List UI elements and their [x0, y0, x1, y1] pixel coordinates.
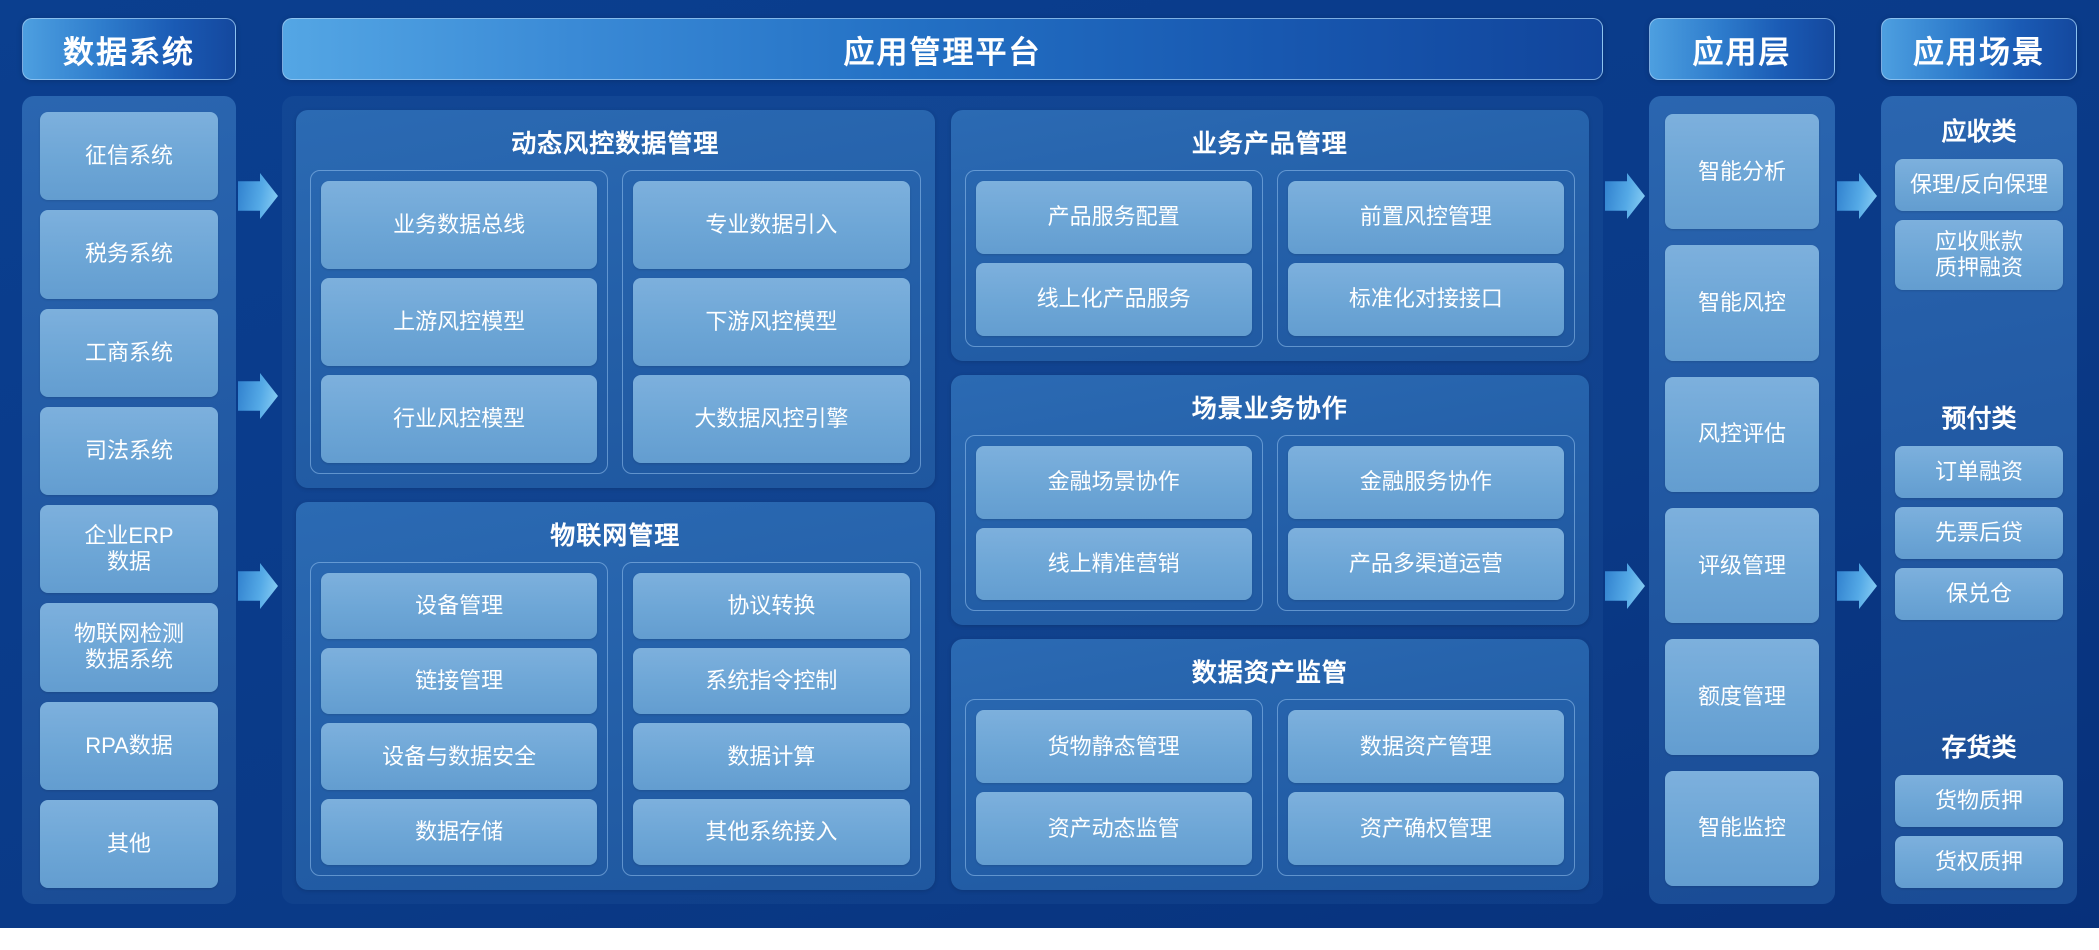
scenario-group-title: 应收类 [1895, 110, 2063, 150]
data-system-item[interactable]: 税务系统 [40, 210, 218, 298]
module-item[interactable]: 上游风控模型 [321, 278, 597, 366]
data-system-item[interactable]: RPA数据 [40, 702, 218, 790]
sub-panel: 前置风控管理 标准化对接接口 [1277, 170, 1575, 347]
sub-panel: 金融服务协作 产品多渠道运营 [1277, 435, 1575, 612]
module-title: 场景业务协作 [965, 385, 1576, 435]
flow-arrow-icon [1605, 563, 1645, 609]
module-item[interactable]: 线上化产品服务 [976, 263, 1252, 336]
platform-left-column: 动态风控数据管理 业务数据总线 上游风控模型 行业风控模型 专业数据引入 下游风… [296, 110, 935, 890]
data-system-item[interactable]: 工商系统 [40, 309, 218, 397]
scenario-item[interactable]: 货权质押 [1895, 836, 2063, 888]
sub-panel: 协议转换 系统指令控制 数据计算 其他系统接入 [622, 562, 920, 876]
application-layer-body: 智能分析 智能风控 风控评估 评级管理 额度管理 智能监控 [1649, 96, 1835, 904]
module-item[interactable]: 资产动态监管 [976, 792, 1252, 865]
flow-arrow-icon [238, 373, 278, 419]
scenario-item[interactable]: 保兑仓 [1895, 568, 2063, 620]
module-item[interactable]: 前置风控管理 [1288, 181, 1564, 254]
module-item[interactable]: 数据资产管理 [1288, 710, 1564, 783]
module-dynamic-risk-data: 动态风控数据管理 业务数据总线 上游风控模型 行业风控模型 专业数据引入 下游风… [296, 110, 935, 488]
sub-panel: 金融场景协作 线上精准营销 [965, 435, 1263, 612]
module-data-asset-supervision: 数据资产监管 货物静态管理 资产动态监管 数据资产管理 资产确权管理 [951, 639, 1590, 890]
module-item[interactable]: 下游风控模型 [633, 278, 909, 366]
data-systems-body: 征信系统 税务系统 工商系统 司法系统 企业ERP 数据 物联网检测 数据系统 … [22, 96, 236, 904]
column-header-application-layer: 应用层 [1649, 18, 1835, 80]
module-item[interactable]: 大数据风控引擎 [633, 375, 909, 463]
sub-panel: 数据资产管理 资产确权管理 [1277, 699, 1575, 876]
diagram-stage: 数据系统 征信系统 税务系统 工商系统 司法系统 企业ERP 数据 物联网检测 … [0, 0, 2099, 928]
module-iot-management: 物联网管理 设备管理 链接管理 设备与数据安全 数据存储 协议转换 系统指令控制 [296, 502, 935, 890]
sub-panel: 业务数据总线 上游风控模型 行业风控模型 [310, 170, 608, 474]
scenario-group-prepayment: 预付类 订单融资 先票后贷 保兑仓 [1895, 397, 2063, 620]
flow-arrow-icon [1837, 173, 1877, 219]
module-title: 数据资产监管 [965, 649, 1576, 699]
application-layer-item[interactable]: 风控评估 [1665, 377, 1819, 492]
data-system-item[interactable]: 物联网检测 数据系统 [40, 603, 218, 691]
module-item[interactable]: 金融场景协作 [976, 446, 1252, 519]
module-title: 动态风控数据管理 [310, 120, 921, 170]
sub-panel: 设备管理 链接管理 设备与数据安全 数据存储 [310, 562, 608, 876]
sub-panel: 专业数据引入 下游风控模型 大数据风控引擎 [622, 170, 920, 474]
column-platform: 应用管理平台 动态风控数据管理 业务数据总线 上游风控模型 行业风控模型 [282, 18, 1603, 904]
data-system-item[interactable]: 司法系统 [40, 407, 218, 495]
module-scenario-collaboration: 场景业务协作 金融场景协作 线上精准营销 金融服务协作 产品多渠道运营 [951, 375, 1590, 626]
scenario-item[interactable]: 订单融资 [1895, 446, 2063, 498]
scenario-item[interactable]: 先票后贷 [1895, 507, 2063, 559]
scenario-group-title: 预付类 [1895, 397, 2063, 437]
module-item[interactable]: 数据存储 [321, 799, 597, 865]
module-item[interactable]: 资产确权管理 [1288, 792, 1564, 865]
column-scenarios: 应用场景 应收类 保理/反向保理 应收账款 质押融资 预付类 订单融资 先票后贷… [1881, 18, 2077, 904]
application-layer-item[interactable]: 智能分析 [1665, 114, 1819, 229]
data-system-item[interactable]: 企业ERP 数据 [40, 505, 218, 593]
column-header-scenarios: 应用场景 [1881, 18, 2077, 80]
sub-panel: 产品服务配置 线上化产品服务 [965, 170, 1263, 347]
module-item[interactable]: 货物静态管理 [976, 710, 1252, 783]
arrow-group-data-to-platform [236, 18, 282, 904]
module-item[interactable]: 金融服务协作 [1288, 446, 1564, 519]
module-subgrid: 设备管理 链接管理 设备与数据安全 数据存储 协议转换 系统指令控制 数据计算 … [310, 562, 921, 876]
application-layer-item[interactable]: 智能监控 [1665, 771, 1819, 886]
arrow-group-platform-to-applayer [1603, 18, 1649, 904]
column-header-data-systems: 数据系统 [22, 18, 236, 80]
application-layer-item[interactable]: 评级管理 [1665, 508, 1819, 623]
column-data-systems: 数据系统 征信系统 税务系统 工商系统 司法系统 企业ERP 数据 物联网检测 … [22, 18, 236, 904]
scenarios-body: 应收类 保理/反向保理 应收账款 质押融资 预付类 订单融资 先票后贷 保兑仓 … [1881, 96, 2077, 904]
scenario-item[interactable]: 保理/反向保理 [1895, 159, 2063, 211]
sub-panel: 货物静态管理 资产动态监管 [965, 699, 1263, 876]
module-title: 物联网管理 [310, 512, 921, 562]
module-item[interactable]: 设备与数据安全 [321, 723, 597, 789]
arrow-group-applayer-to-scenarios [1835, 18, 1881, 904]
module-item[interactable]: 设备管理 [321, 573, 597, 639]
module-item[interactable]: 链接管理 [321, 648, 597, 714]
platform-body: 动态风控数据管理 业务数据总线 上游风控模型 行业风控模型 专业数据引入 下游风… [282, 96, 1603, 904]
application-layer-item[interactable]: 智能风控 [1665, 245, 1819, 360]
scenario-item[interactable]: 应收账款 质押融资 [1895, 220, 2063, 290]
flow-arrow-icon [1605, 173, 1645, 219]
module-item[interactable]: 专业数据引入 [633, 181, 909, 269]
scenario-group-inventory: 存货类 货物质押 货权质押 [1895, 726, 2063, 888]
module-subgrid: 金融场景协作 线上精准营销 金融服务协作 产品多渠道运营 [965, 435, 1576, 612]
module-item[interactable]: 行业风控模型 [321, 375, 597, 463]
column-application-layer: 应用层 智能分析 智能风控 风控评估 评级管理 额度管理 智能监控 [1649, 18, 1835, 904]
module-subgrid: 产品服务配置 线上化产品服务 前置风控管理 标准化对接接口 [965, 170, 1576, 347]
module-item[interactable]: 产品多渠道运营 [1288, 528, 1564, 601]
module-item[interactable]: 业务数据总线 [321, 181, 597, 269]
scenario-item[interactable]: 货物质押 [1895, 775, 2063, 827]
data-system-item[interactable]: 其他 [40, 800, 218, 888]
flow-arrow-icon [1837, 563, 1877, 609]
platform-right-column: 业务产品管理 产品服务配置 线上化产品服务 前置风控管理 标准化对接接口 [951, 110, 1590, 890]
module-title: 业务产品管理 [965, 120, 1576, 170]
module-item[interactable]: 数据计算 [633, 723, 909, 789]
data-system-item[interactable]: 征信系统 [40, 112, 218, 200]
application-layer-item[interactable]: 额度管理 [1665, 639, 1819, 754]
module-item[interactable]: 线上精准营销 [976, 528, 1252, 601]
module-item[interactable]: 标准化对接接口 [1288, 263, 1564, 336]
module-item[interactable]: 系统指令控制 [633, 648, 909, 714]
module-business-product: 业务产品管理 产品服务配置 线上化产品服务 前置风控管理 标准化对接接口 [951, 110, 1590, 361]
scenario-group-receivable: 应收类 保理/反向保理 应收账款 质押融资 [1895, 110, 2063, 290]
module-subgrid: 货物静态管理 资产动态监管 数据资产管理 资产确权管理 [965, 699, 1576, 876]
module-subgrid: 业务数据总线 上游风控模型 行业风控模型 专业数据引入 下游风控模型 大数据风控… [310, 170, 921, 474]
flow-arrow-icon [238, 173, 278, 219]
diagram-canvas: 数据系统 征信系统 税务系统 工商系统 司法系统 企业ERP 数据 物联网检测 … [0, 0, 2099, 950]
flow-arrow-icon [238, 563, 278, 609]
scenario-group-title: 存货类 [1895, 726, 2063, 766]
module-item[interactable]: 产品服务配置 [976, 181, 1252, 254]
column-header-platform: 应用管理平台 [282, 18, 1603, 80]
module-item[interactable]: 其他系统接入 [633, 799, 909, 865]
module-item[interactable]: 协议转换 [633, 573, 909, 639]
